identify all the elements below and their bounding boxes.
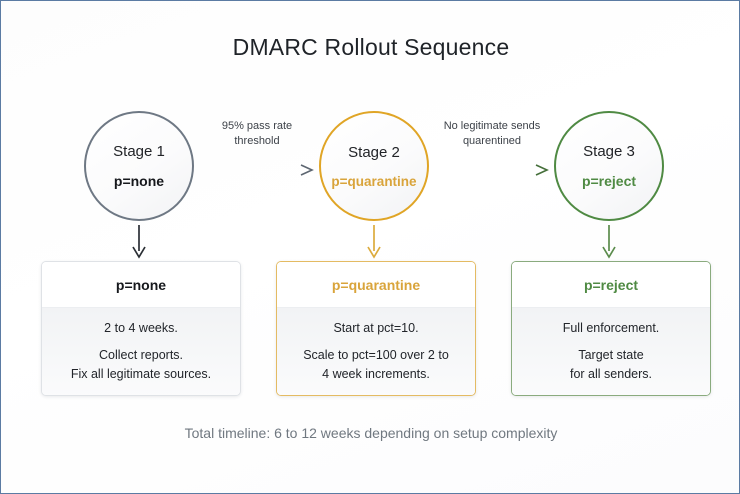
stage-3-policy: p=reject — [582, 173, 636, 189]
detail-card-1: p=none 2 to 4 weeks. Collect reports. Fi… — [41, 261, 241, 396]
detail-card-3-line-1: Full enforcement. — [512, 319, 710, 338]
stage-1-name: Stage 1 — [113, 143, 165, 160]
transition-label-2-line1: No legitimate sends — [417, 119, 567, 134]
diagram-canvas: DMARC Rollout Sequence Stage 1 p=none St… — [0, 0, 740, 494]
detail-card-2-header: p=quarantine — [277, 262, 475, 308]
stage-2-policy: p=quarantine — [331, 174, 416, 189]
detail-card-2: p=quarantine Start at pct=10. Scale to p… — [276, 261, 476, 396]
detail-card-1-line-3: Fix all legitimate sources. — [42, 365, 240, 384]
stage-node-2: Stage 2 p=quarantine — [319, 111, 429, 221]
page-title: DMARC Rollout Sequence — [1, 34, 740, 61]
footer-note: Total timeline: 6 to 12 weeks depending … — [1, 425, 740, 441]
transition-label-2-line2: quarentined — [417, 134, 567, 149]
stage-2-name: Stage 2 — [348, 144, 400, 161]
transition-label-1-line2: threshold — [182, 134, 332, 149]
detail-card-3-line-2: Target state — [512, 346, 710, 365]
detail-card-3-body: Full enforcement. Target state for all s… — [512, 308, 710, 396]
detail-card-3-header: p=reject — [512, 262, 710, 308]
stage-node-1: Stage 1 p=none — [84, 111, 194, 221]
detail-card-2-line-3: 4 week increments. — [277, 365, 475, 384]
transition-label-1: 95% pass rate threshold — [182, 119, 332, 149]
arrow-stage2-to-card2 — [361, 225, 387, 261]
arrow-stage1-to-card1 — [126, 225, 152, 261]
detail-card-2-line-1: Start at pct=10. — [277, 319, 475, 338]
arrow-stage2-to-stage3 — [432, 159, 552, 181]
arrow-stage1-to-stage2 — [197, 159, 317, 181]
transition-label-1-line1: 95% pass rate — [182, 119, 332, 134]
stage-1-policy: p=none — [114, 173, 164, 189]
detail-card-2-body: Start at pct=10. Scale to pct=100 over 2… — [277, 308, 475, 396]
detail-card-2-line-2: Scale to pct=100 over 2 to — [277, 346, 475, 365]
stage-3-name: Stage 3 — [583, 143, 635, 160]
detail-card-1-header: p=none — [42, 262, 240, 308]
detail-card-1-body: 2 to 4 weeks. Collect reports. Fix all l… — [42, 308, 240, 396]
detail-card-3-line-3: for all senders. — [512, 365, 710, 384]
detail-card-1-line-2: Collect reports. — [42, 346, 240, 365]
arrow-stage3-to-card3 — [596, 225, 622, 261]
stage-node-3: Stage 3 p=reject — [554, 111, 664, 221]
transition-label-2: No legitimate sends quarentined — [417, 119, 567, 149]
detail-card-3: p=reject Full enforcement. Target state … — [511, 261, 711, 396]
detail-card-1-line-1: 2 to 4 weeks. — [42, 319, 240, 338]
